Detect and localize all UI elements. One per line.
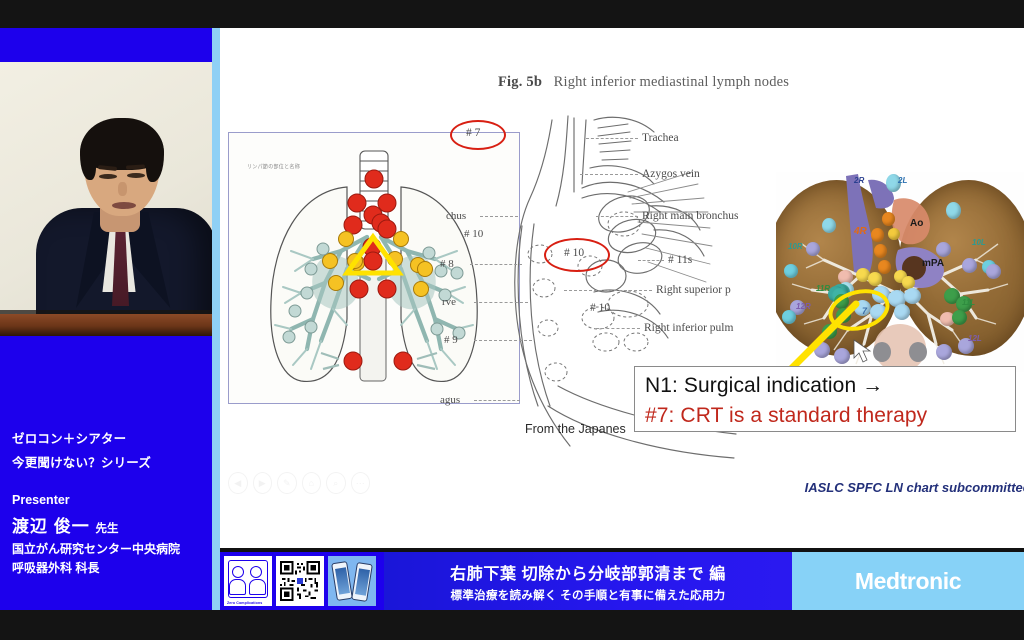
figure-caption: Fig. 5b Right inferior mediastinal lymph… bbox=[498, 74, 938, 91]
phone-right-screen bbox=[355, 568, 370, 595]
qr-code[interactable] bbox=[276, 556, 324, 606]
anno-left-10: # 10 bbox=[464, 228, 483, 240]
anno-left-nerve: rve bbox=[442, 296, 456, 308]
play-icon[interactable]: ▶ bbox=[253, 472, 273, 494]
label-circled-station-10: # 10 bbox=[564, 247, 584, 259]
pen-icon[interactable]: ✎ bbox=[277, 472, 297, 494]
medtronic-logo: Medtronic bbox=[792, 552, 1024, 610]
previous-icon[interactable]: ◀ bbox=[228, 472, 248, 494]
label-circled-station-7: # 7 bbox=[466, 127, 480, 139]
leader-left-nerve bbox=[474, 302, 528, 303]
logo-body-left bbox=[229, 579, 246, 595]
banner-icon-group: Zero Complications bbox=[220, 552, 384, 610]
banner-title-sub: 標準治療を読み解く その手順と有事に備えた応用力 bbox=[451, 587, 726, 603]
leader-station-9 bbox=[474, 340, 532, 341]
qr-code-svg bbox=[280, 560, 320, 602]
leader-left-bronchus bbox=[480, 216, 518, 217]
anno-azygos-vein: Azygos vein bbox=[642, 168, 700, 180]
presenter-name: 渡辺 俊一 bbox=[12, 517, 90, 536]
banner-title-block: 右肺下葉 切除から分岐部郭清まで 編 標準治療を読み解く その手順と有事に備えた… bbox=[384, 552, 792, 610]
logo-head-right bbox=[250, 566, 262, 578]
series-line-2: 今更聞けない？シリーズ bbox=[12, 452, 210, 471]
leader-inferior-pv bbox=[596, 328, 640, 329]
lung-schematic-panel: リンパ節の部位と名称 bbox=[228, 132, 520, 404]
zero-complications-logo: Zero Complications bbox=[224, 556, 272, 606]
slide-attribution: IASLC SPFC LN chart subcommittee bbox=[740, 480, 1024, 495]
leader-bronchus bbox=[596, 216, 638, 217]
anno-station-9: # 9 bbox=[444, 334, 458, 346]
viewer-toolbar[interactable]: ◀ ▶ ✎ ⌂ ⌕ ··· bbox=[228, 472, 370, 500]
presenter-hair-left bbox=[80, 138, 96, 180]
letterbox-top bbox=[0, 0, 1024, 28]
figure-title: Right inferior mediastinal lymph nodes bbox=[554, 74, 790, 90]
logo-caption: Zero Complications bbox=[227, 601, 262, 605]
logo-head-left bbox=[232, 566, 244, 578]
presenter-honorific: 先生 bbox=[95, 523, 118, 535]
phone-right bbox=[351, 562, 373, 602]
eye-left bbox=[99, 174, 117, 179]
presenter-info: ゼロコン＋シアター 今更聞けない？シリーズ Presenter 渡辺 俊一 先生… bbox=[12, 428, 210, 576]
anno-station-8: # 8 bbox=[440, 258, 454, 270]
more-icon[interactable]: ··· bbox=[351, 472, 371, 494]
zoom-icon[interactable]: ⌕ bbox=[326, 472, 346, 494]
presenter-name-row: 渡辺 俊一 先生 bbox=[12, 512, 210, 537]
leader-superior-pv bbox=[564, 290, 652, 291]
anno-right-inferior-pv: Right inferior pulm bbox=[644, 322, 733, 334]
lung-panel-caption: リンパ節の部位と名称 bbox=[247, 163, 300, 171]
mouth bbox=[112, 202, 136, 209]
letterbox-bottom bbox=[0, 610, 1024, 640]
mobile-app-graphic bbox=[328, 556, 376, 606]
leader-azygos bbox=[580, 174, 638, 175]
anno-left-esophagus: agus bbox=[440, 394, 460, 406]
series-line-1: ゼロコン＋シアター bbox=[12, 428, 210, 447]
banner-title-main: 右肺下葉 切除から分岐部郭清まで 編 bbox=[450, 560, 726, 584]
affiliation-line-2: 呼吸器外科 科長 bbox=[12, 559, 210, 576]
screen: ゼロコン＋シアター 今更聞けない？シリーズ Presenter 渡辺 俊一 先生… bbox=[0, 0, 1024, 640]
anno-station-11s: # 11s bbox=[668, 254, 692, 266]
anno-station-10-right: # 10 bbox=[590, 302, 610, 314]
source-note: From the Japanes bbox=[525, 422, 626, 436]
logo-body-right bbox=[249, 579, 266, 595]
anno-right-main-bronchus: Right main bronchus bbox=[642, 210, 738, 222]
slide-canvas[interactable]: Fig. 5b Right inferior mediastinal lymph… bbox=[220, 28, 1024, 548]
callout-line-1: N1: Surgical indication → bbox=[645, 370, 1005, 401]
stamp-icon[interactable]: ⌂ bbox=[302, 472, 322, 494]
presenter-label: Presenter bbox=[12, 493, 210, 507]
leader-trachea bbox=[586, 138, 638, 139]
leader-11s bbox=[638, 260, 664, 261]
leader-station-8 bbox=[470, 264, 522, 265]
panel-divider bbox=[212, 28, 220, 610]
anno-left-bronchus: chus bbox=[446, 210, 466, 222]
callout-line-2: #7: CRT is a standard therapy bbox=[645, 401, 1005, 431]
phone-left-screen bbox=[335, 567, 350, 594]
program-banner: Zero Complications bbox=[220, 552, 1024, 610]
affiliation-line-1: 国立がん研究センター中央病院 bbox=[12, 540, 210, 557]
presenter-panel: ゼロコン＋シアター 今更聞けない？シリーズ Presenter 渡辺 俊一 先生… bbox=[0, 28, 212, 610]
key-message-callout: N1: Surgical indication → #7: CRT is a s… bbox=[634, 366, 1016, 432]
eye-right bbox=[127, 173, 145, 178]
anno-right-superior-pv: Right superior p bbox=[656, 284, 731, 296]
leader-left-esophagus bbox=[474, 400, 520, 401]
nose bbox=[118, 182, 127, 196]
phone-left bbox=[331, 561, 353, 601]
anno-trachea: Trachea bbox=[642, 132, 679, 144]
desk-edge bbox=[0, 314, 212, 336]
presenter-webcam-video[interactable] bbox=[0, 62, 212, 336]
figure-number: Fig. 5b bbox=[498, 74, 542, 90]
